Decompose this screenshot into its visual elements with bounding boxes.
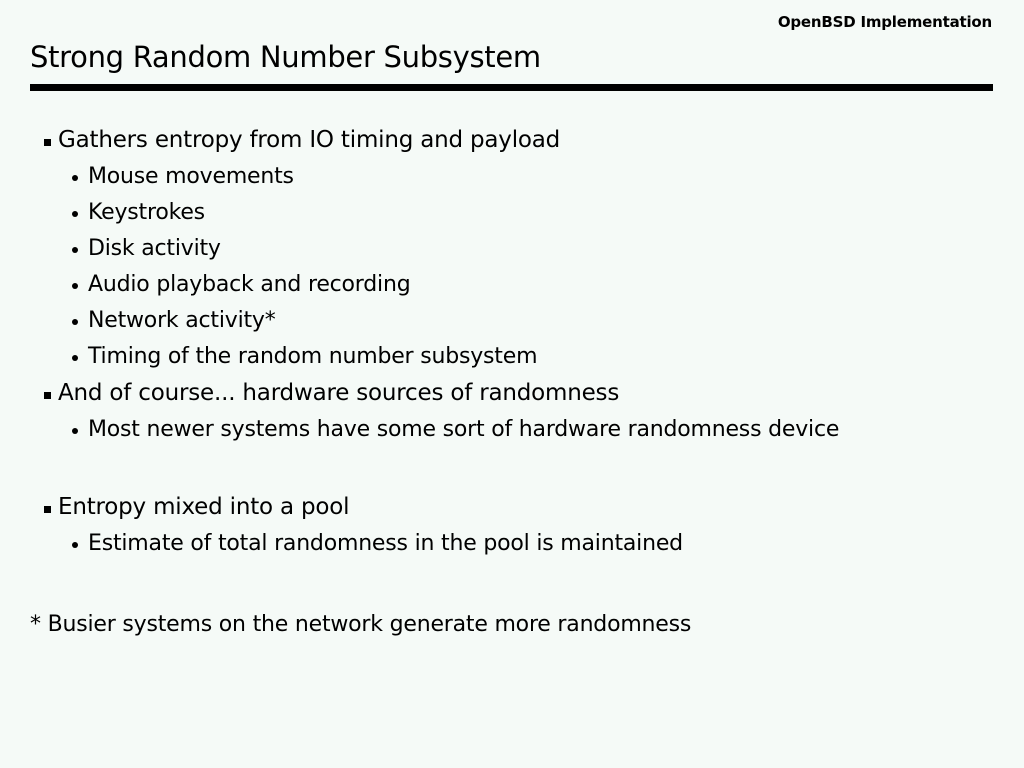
list-item-label: Disk activity bbox=[88, 233, 221, 265]
list-item: Gathers entropy from IO timing and paylo… bbox=[0, 124, 1024, 161]
list-item-label: Entropy mixed into a pool bbox=[58, 491, 349, 524]
presentation-slide: OpenBSD Implementation Strong Random Num… bbox=[0, 0, 1024, 768]
list-item: Mouse movements bbox=[0, 161, 1024, 197]
round-bullet-icon bbox=[72, 175, 78, 181]
square-bullet-icon bbox=[44, 392, 51, 399]
list-item: Estimate of total randomness in the pool… bbox=[0, 528, 1024, 564]
page-title: Strong Random Number Subsystem bbox=[30, 40, 541, 74]
footnote: * Busier systems on the network generate… bbox=[30, 610, 691, 640]
round-bullet-icon bbox=[72, 319, 78, 325]
running-head: OpenBSD Implementation bbox=[778, 13, 992, 31]
round-bullet-icon bbox=[72, 211, 78, 217]
list-item: Disk activity bbox=[0, 233, 1024, 269]
list-item-label: Mouse movements bbox=[88, 161, 294, 193]
list-item: Timing of the random number subsystem bbox=[0, 341, 1024, 377]
round-bullet-icon bbox=[72, 428, 78, 434]
round-bullet-icon bbox=[72, 542, 78, 548]
title-divider bbox=[30, 84, 993, 91]
list-item: Most newer systems have some sort of har… bbox=[0, 414, 1024, 450]
round-bullet-icon bbox=[72, 355, 78, 361]
list-item-label: Audio playback and recording bbox=[88, 269, 410, 301]
list-item-label: Keystrokes bbox=[88, 197, 205, 229]
list-item: And of course... hardware sources of ran… bbox=[0, 377, 1024, 414]
list-item-label: Gathers entropy from IO timing and paylo… bbox=[58, 124, 560, 157]
list-item: Network activity* bbox=[0, 305, 1024, 341]
list-item: Audio playback and recording bbox=[0, 269, 1024, 305]
round-bullet-icon bbox=[72, 283, 78, 289]
list-item: Entropy mixed into a pool bbox=[0, 491, 1024, 528]
round-bullet-icon bbox=[72, 247, 78, 253]
list-item-label: Timing of the random number subsystem bbox=[88, 341, 537, 373]
list-item-label: Network activity* bbox=[88, 305, 276, 337]
list-item-label: Most newer systems have some sort of har… bbox=[88, 414, 839, 446]
bullet-list: Gathers entropy from IO timing and paylo… bbox=[0, 124, 1024, 564]
blank-line-spacer bbox=[0, 450, 1024, 491]
list-item: Keystrokes bbox=[0, 197, 1024, 233]
list-item-label: And of course... hardware sources of ran… bbox=[58, 377, 619, 410]
square-bullet-icon bbox=[44, 506, 51, 513]
square-bullet-icon bbox=[44, 139, 51, 146]
list-item-label: Estimate of total randomness in the pool… bbox=[88, 528, 683, 560]
